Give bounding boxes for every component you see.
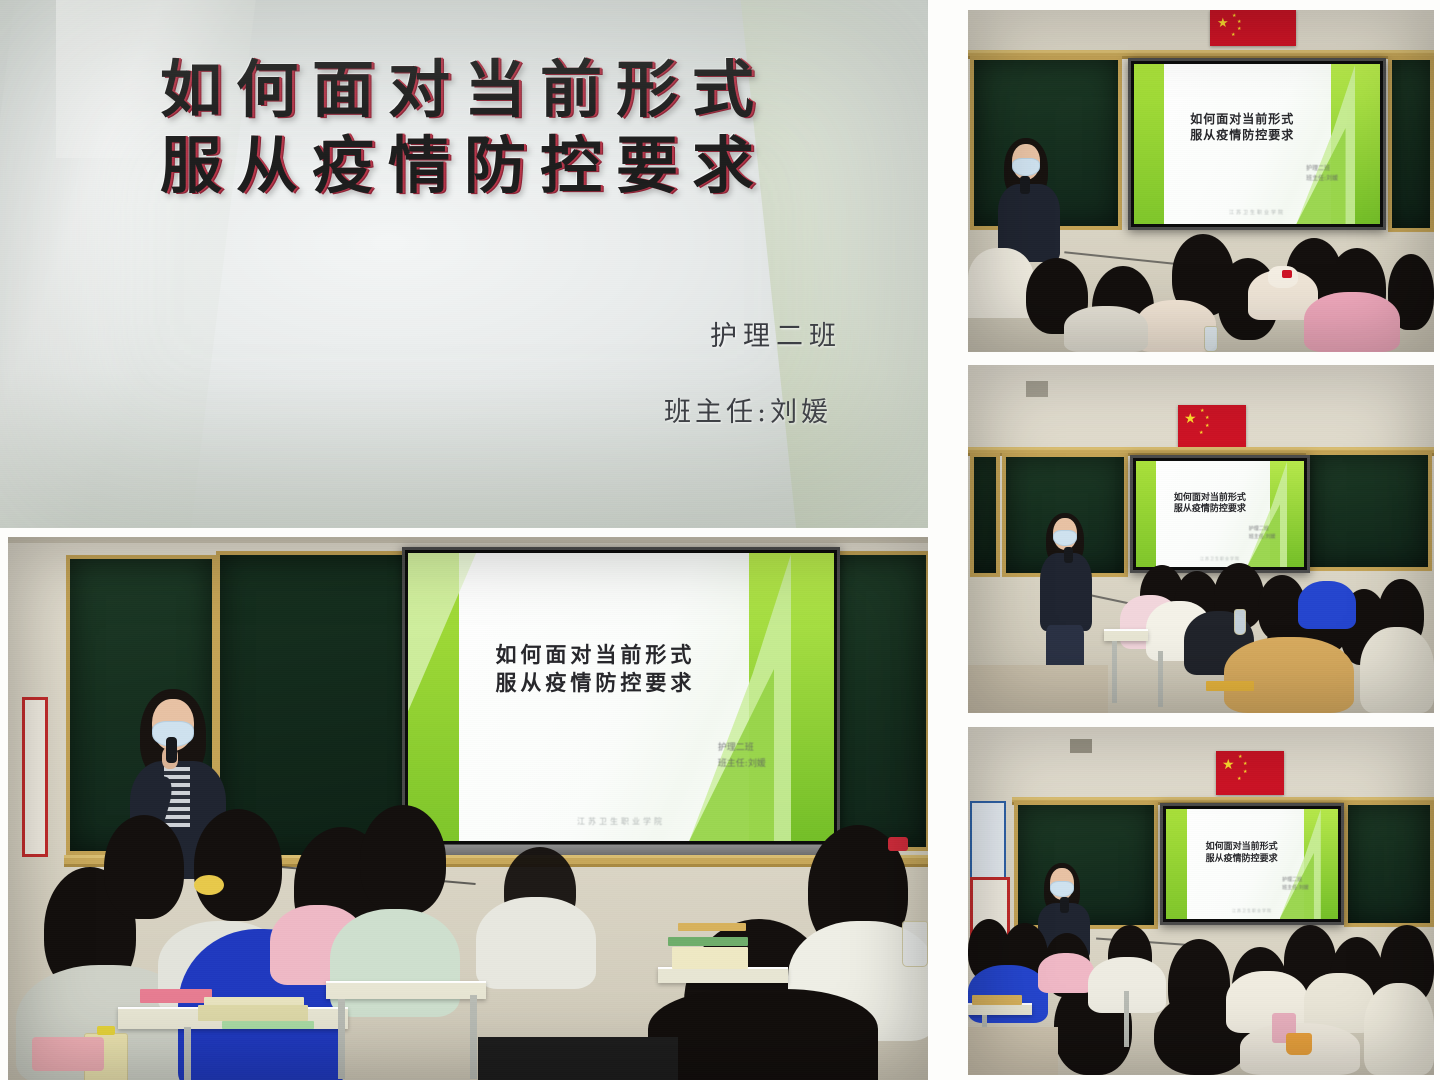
photo-classroom-shot-rear: ★ ★ ★ ★ ★ 如何面对当前形式 服从疫情防控要求 [968,727,1434,1075]
slide-meta-text: 护理二班 班主任:刘媛 [1249,525,1276,542]
wall-upper [968,727,1434,799]
slide-title-line1: 如何面对当前形式 [442,642,749,669]
book-stack [222,1021,314,1029]
student-head [194,809,282,921]
teacher-torso [1040,553,1092,631]
book-stack [198,1005,308,1021]
wall-fixture [1026,381,1048,397]
smartboard-screen[interactable]: 如何面对当前形式 服从疫情防控要求 护理二班 班主任:刘媛 江苏卫生职业学院 [1130,455,1310,573]
slide-meta-teacher: 班主任:刘媛 [718,757,766,772]
blackboard-right [1388,56,1434,232]
slide-title-line1: 如何面对当前形式 [1154,112,1331,128]
slide-title-line2: 服从疫情防控要求 [442,670,749,697]
slide-canvas: 如何面对当前形式 服从疫情防控要求 护理二班 班主任:刘媛 江苏卫生职业学院 [408,553,834,841]
slide-title-text: 如何面对当前形式 服从疫情防控要求 [1149,493,1270,516]
desk-leg [1112,641,1117,703]
student-body [968,248,1034,318]
smartboard-screen[interactable]: 如何面对当前形式 服从疫情防控要求 护理二班 班主任:刘媛 江苏卫生职业学院 [1128,58,1386,230]
slide-meta-text: 护理二班 班主任:刘媛 [718,741,766,772]
book-stack [678,923,746,931]
hair-clip [888,837,908,851]
flag-star-small: ★ [1243,762,1247,767]
flag-star-small: ★ [1200,409,1204,414]
student-body [1064,306,1148,352]
slide-title-line2: 服从疫情防控要求 [1149,504,1270,516]
slide-title-text: 如何面对当前形式 服从疫情防控要求 [1154,112,1331,143]
photo-classroom-shot-side: ★ ★ ★ ★ ★ 如何面对当前形式 服从疫情防控要求 [968,365,1434,713]
desk-leg [184,1027,191,1080]
wall-upper [968,10,1434,52]
slide-footer-text: 江苏卫生职业学院 [1166,908,1338,914]
microphone [1060,897,1069,913]
student-body-tan [1224,637,1354,713]
slide-canvas: 如何面对当前形式 服从疫情防控要求 护理二班 班主任:刘媛 江苏卫生职业学院 [1166,809,1338,919]
flag-star-small: ★ [1237,27,1241,32]
slide-meta-class: 护理二班 [1249,525,1276,534]
slide-title-line2: 服从疫情防控要求 [1154,128,1331,144]
flag-star-large: ★ [1184,411,1197,425]
slide-canvas: 如何面对当前形式 服从疫情防控要求 护理二班 班主任:刘媛 江苏卫生职业学院 [1136,461,1304,567]
blackboard-far-left [970,453,1000,577]
bottle-cap [97,1026,115,1035]
microphone [166,737,177,763]
desk-leg [470,995,477,1079]
wall-poster [22,697,48,857]
water-bottle [1234,609,1246,635]
smartboard-screen[interactable]: 如何面对当前形式 服从疫情防控要求 护理二班 班主任:刘媛 江苏卫生职业学院 [1160,803,1344,925]
book-stack [668,937,748,946]
student-body [330,909,460,1017]
teacher-face-mask [1012,158,1040,176]
slide-vignette [0,0,928,528]
slide-meta-text: 护理二班 班主任:刘媛 [1306,164,1338,184]
plush-toy-accent [1282,270,1292,278]
blackboard-right [1306,451,1432,571]
china-flag: ★ ★ ★ ★ ★ [1178,405,1246,447]
floor [968,1027,1058,1075]
book-stack [140,989,212,1003]
flag-star-small: ★ [1237,20,1241,25]
flag-star-small: ★ [1231,33,1235,38]
flag-star-small: ★ [1205,416,1209,421]
book-stack [972,995,1022,1005]
student-body [476,897,596,989]
photo-classroom-wide-shot: 如何面对当前形式 服从疫情防控要求 护理二班 班主任:刘媛 江苏卫生职业学院 [8,537,928,1080]
flag-star-small: ★ [1243,770,1247,775]
microphone [1020,176,1030,194]
teacher-figure [998,138,1062,262]
flag-star-small: ★ [1199,431,1203,436]
slide-meta-teacher: 班主任:刘媛 [1306,174,1338,184]
student-head [104,815,184,919]
wall-ceiling-line [8,537,928,543]
wall-fixture [1070,739,1092,753]
student-body [1360,627,1434,713]
flag-star-large: ★ [1217,16,1229,29]
desk-leg [338,999,345,1079]
water-bottle [1204,326,1218,352]
flag-star-small: ★ [1237,777,1241,782]
slide-meta-class: 护理二班 [718,741,766,756]
photo-presentation-title-slide: 如何面对当前形式 服从疫情防控要求 护理二班 班主任:刘媛 [0,0,928,528]
pencil-case [32,1037,104,1071]
student-body-pink [1038,953,1094,993]
slide-meta-class: 护理二班 [1306,164,1338,174]
china-flag: ★ ★ ★ ★ ★ [1216,751,1284,795]
teacher-face-mask [1050,881,1074,897]
blackboard-right-wing [826,551,928,851]
slide-title-line1: 如何面对当前形式 [1180,842,1304,854]
hair-clip [194,875,224,895]
student-body [1364,983,1434,1075]
slide-footer-text: 江苏卫生职业学院 [408,816,834,827]
classroom-scene: 如何面对当前形式 服从疫情防控要求 护理二班 班主任:刘媛 江苏卫生职业学院 [8,537,928,1080]
slide-footer-text: 江苏卫生职业学院 [1134,209,1380,216]
slide-title-text: 如何面对当前形式 服从疫情防控要求 [442,642,749,697]
book-stack [1206,681,1254,691]
flag-star-large: ★ [1222,757,1235,771]
classroom-scene: ★ ★ ★ ★ ★ 如何面对当前形式 服从疫情防控要求 [968,365,1434,713]
student-desk [658,967,788,983]
slide-meta-teacher: 班主任:刘媛 [1282,884,1309,893]
blackboard-right [1344,801,1434,927]
floor-shadow [478,1037,678,1080]
classroom-scene: ★ ★ ★ ★ ★ 如何面对当前形式 服从疫情防控要求 [968,727,1434,1075]
student-desk [326,981,486,999]
slide-meta-text: 护理二班 班主任:刘媛 [1282,876,1309,893]
flag-star-small: ★ [1205,424,1209,429]
slide-canvas: 如何面对当前形式 服从疫情防控要求 护理二班 班主任:刘媛 江苏卫生职业学院 [1134,64,1380,224]
flag-star-small: ★ [1232,14,1236,19]
desk-leg [1124,991,1129,1047]
smartboard-screen[interactable]: 如何面对当前形式 服从疫情防控要求 护理二班 班主任:刘媛 江苏卫生职业学院 [402,547,840,847]
slide-title-line2: 服从疫情防控要求 [1180,854,1304,866]
desk-leg [1158,651,1163,707]
slide-title-line1: 如何面对当前形式 [1149,493,1270,505]
floor [968,665,1108,713]
microphone [1064,547,1073,563]
slide-title-text: 如何面对当前形式 服从疫情防控要求 [1180,842,1304,865]
water-bottle [902,921,928,967]
student-body [648,989,878,1080]
photo-classroom-shot-front: ★ ★ ★ ★ ★ 如何面对当前形式 服从疫情防控要求 [968,10,1434,352]
china-flag: ★ ★ ★ ★ ★ [1210,10,1296,46]
student-body-blue [1298,581,1356,629]
slide-meta-class: 护理二班 [1282,876,1309,885]
classroom-scene: ★ ★ ★ ★ ★ 如何面对当前形式 服从疫情防控要求 [968,10,1434,352]
flag-star-small: ★ [1238,755,1242,760]
teacher-face-mask [1053,530,1077,546]
student-head [360,805,446,915]
cup [1286,1033,1312,1055]
photo-collage: 如何面对当前形式 服从疫情防控要求 护理二班 班主任:刘媛 [0,0,1440,1080]
slide-footer-text: 江苏卫生职业学院 [1136,556,1304,562]
student-desk [1104,629,1148,641]
slide-decor-left-band [1134,64,1164,224]
book-stack [672,947,748,969]
student-body-pink [1304,292,1400,352]
slide-meta-teacher: 班主任:刘媛 [1249,533,1276,542]
